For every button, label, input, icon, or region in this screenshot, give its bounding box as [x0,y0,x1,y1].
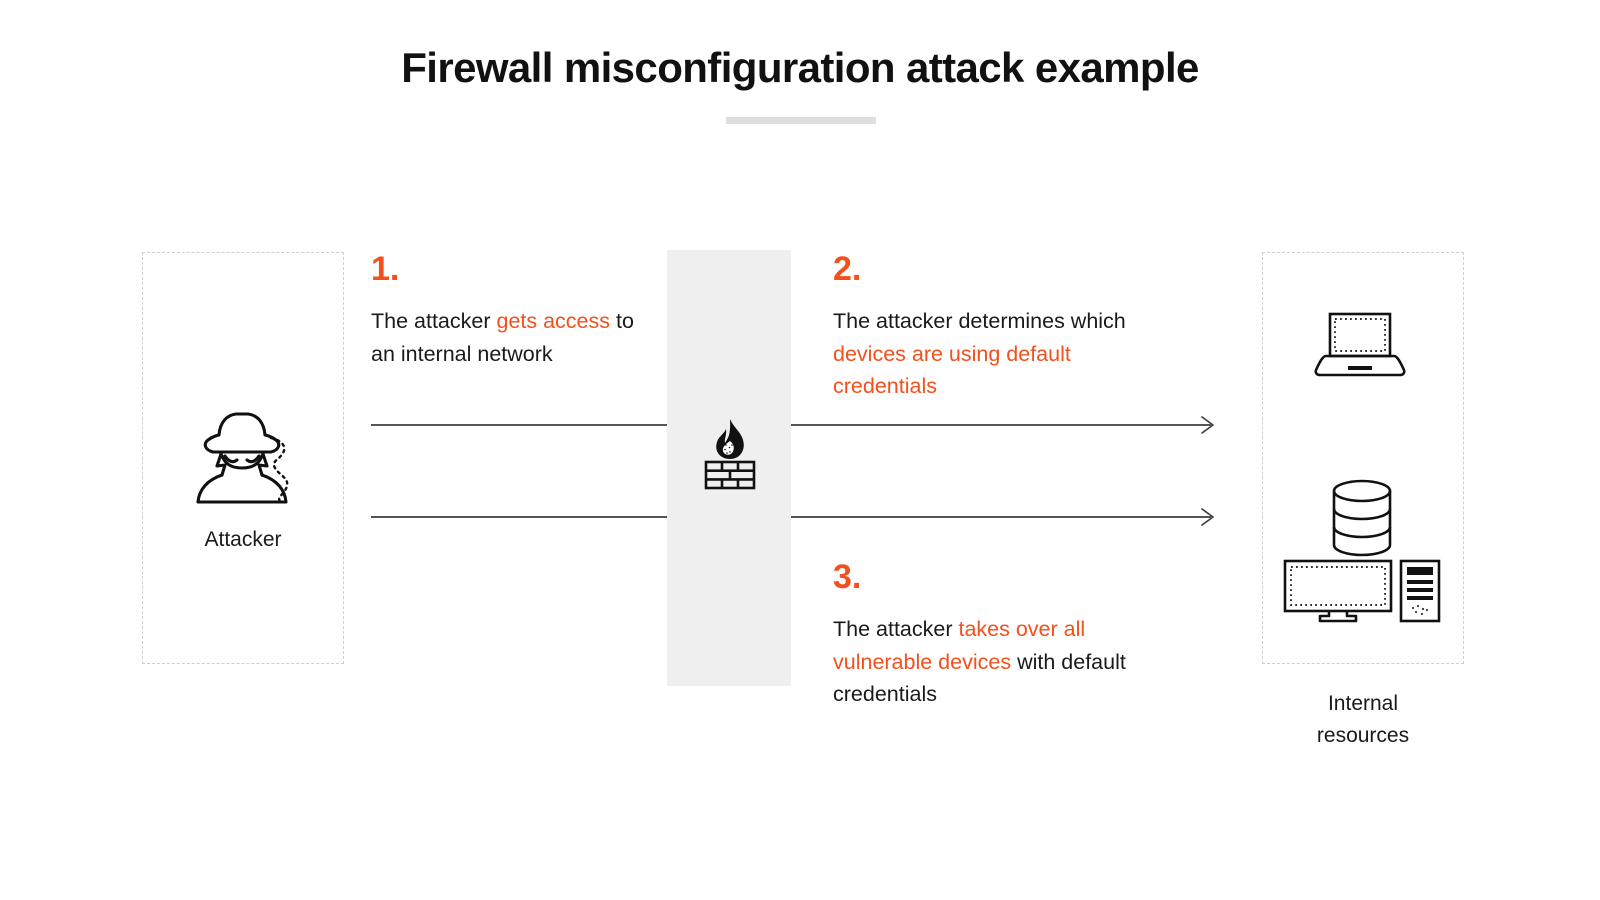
arrow-firewall-to-internal-bottom [791,507,1221,527]
step-2-text: The attacker determines which devices ar… [833,305,1153,403]
highlighted-phrase: gets access [496,309,610,333]
internal-resources-label-line-1: Internal [1328,692,1398,715]
firewall-flame-brickwall-icon [701,417,759,491]
step-1: 1. The attacker gets access to an intern… [371,252,649,370]
internal-resources-endpoint [1262,300,1464,630]
step-2-number: 2. [833,252,1153,286]
step-3-number: 3. [833,560,1163,594]
attacker-hacker-icon [191,408,295,506]
plain-phrase: The attacker [833,617,958,641]
internal-resources-label: Internal resources [1232,688,1494,751]
attacker-label: Attacker [142,524,344,556]
step-1-text: The attacker gets access to an internal … [371,305,649,370]
arrow-attacker-to-firewall-bottom [371,507,669,527]
highlighted-phrase: devices are using default credentials [833,342,1071,399]
page-title: Firewall misconfiguration attack example [0,44,1600,92]
plain-phrase: The attacker [371,309,496,333]
database-icon [1325,478,1399,558]
step-1-number: 1. [371,252,649,286]
internal-resources-label-line-2: resources [1317,724,1409,747]
step-3-text: The attacker takes over all vulnerable d… [833,613,1163,711]
arrow-firewall-to-internal-top [791,415,1221,435]
arrow-attacker-to-firewall-top [371,415,669,435]
step-3: 3. The attacker takes over all vulnerabl… [833,560,1163,711]
attacker-endpoint: Attacker [142,408,344,558]
plain-phrase: The attacker determines which [833,309,1126,333]
title-underline-rule [726,117,876,124]
step-2: 2. The attacker determines which devices… [833,252,1153,403]
laptop-icon [1310,310,1406,380]
diagram-canvas: Firewall misconfiguration attack example [0,0,1600,900]
desktop-computer-icon [1282,558,1442,624]
